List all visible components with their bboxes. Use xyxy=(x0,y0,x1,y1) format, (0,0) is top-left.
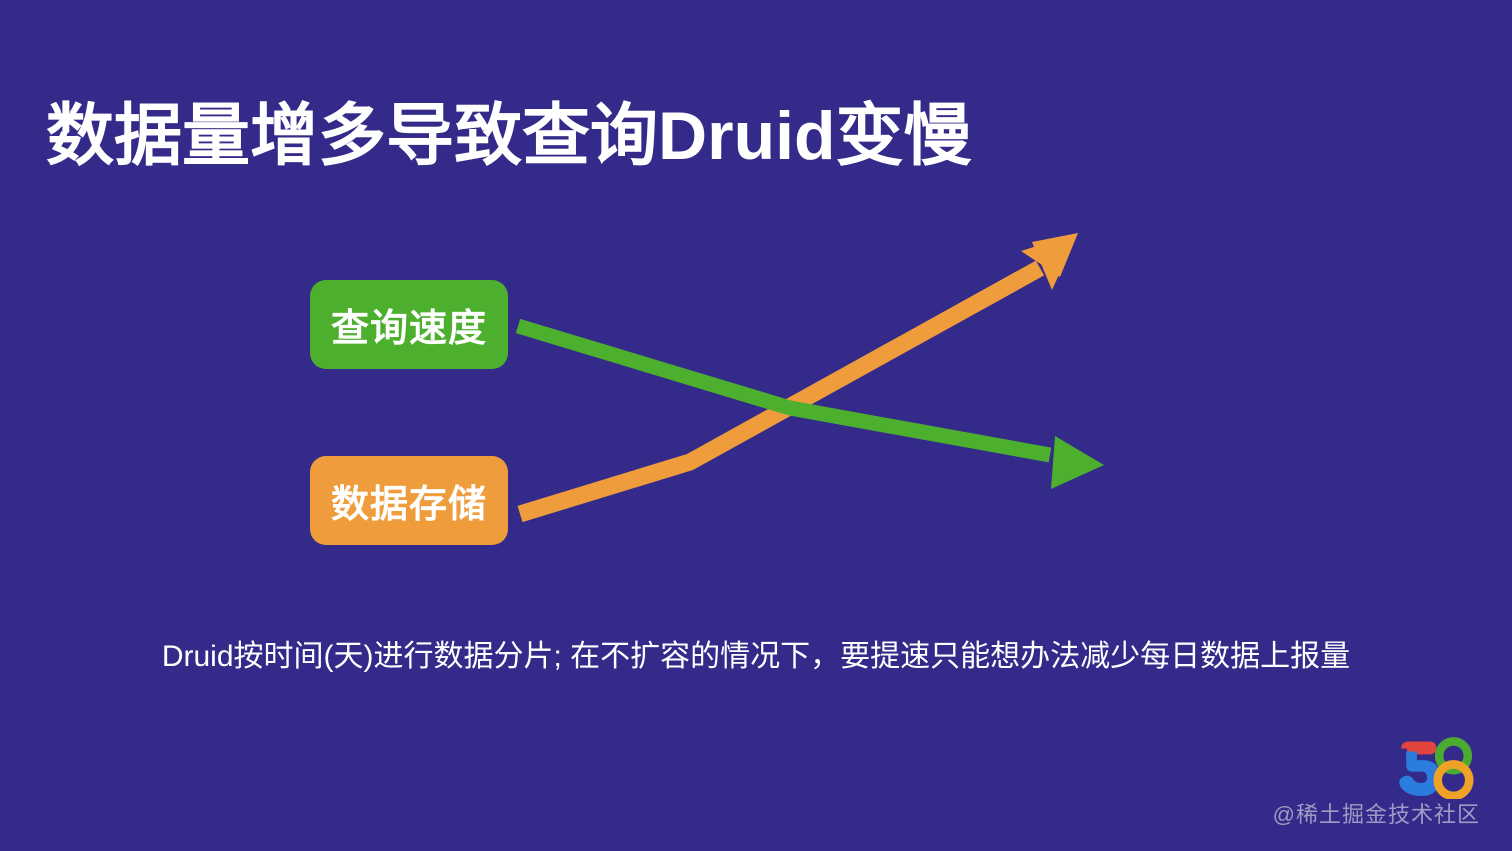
label-box-data-storage-text: 数据存储 xyxy=(331,473,487,528)
label-box-query-speed: 查询速度 xyxy=(310,280,508,369)
watermark-label: @稀土掘金技术社区 xyxy=(1273,797,1480,829)
label-box-query-speed-text: 查询速度 xyxy=(331,297,487,352)
trend-arrows-svg xyxy=(0,0,1512,851)
logo-58-icon xyxy=(1394,737,1480,799)
trend-diagram: 查询速度 数据存储 xyxy=(0,0,1512,851)
caption-text: Druid按时间(天)进行数据分片; 在不扩容的情况下，要提速只能想办法减少每日… xyxy=(0,637,1512,678)
query-speed-trend-arrow xyxy=(518,326,1104,489)
data-storage-trend-arrow xyxy=(520,233,1078,514)
slide-canvas: 数据量增多导致查询Druid变慢 查询速度 数据存储 Druid按时间(天)进行… xyxy=(0,0,1512,851)
label-box-data-storage: 数据存储 xyxy=(310,456,508,545)
brand-block: @稀土掘金技术社区 xyxy=(1294,737,1494,833)
